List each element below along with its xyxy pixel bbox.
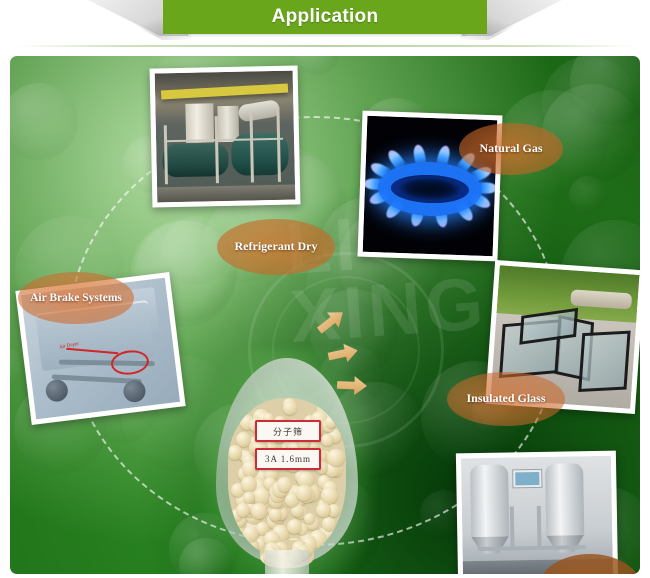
product-tag-name: 分子筛: [255, 420, 321, 442]
product-tag-group: 分子筛 3A 1.6mm: [255, 420, 321, 472]
header-banner: Application: [0, 0, 650, 46]
application-stage: LI XING: [10, 56, 640, 574]
product-vessel-neck: [265, 550, 309, 574]
refrigerant-photo-art: [155, 71, 296, 203]
label-refrigerant-dry[interactable]: Refrigerant Dry: [217, 219, 335, 275]
application-banner: Application LI XING: [0, 0, 650, 578]
label-insulated-glass[interactable]: Insulated Glass: [447, 372, 565, 426]
photo-refrigerant-dry[interactable]: [150, 65, 301, 207]
label-natural-gas[interactable]: Natural Gas: [459, 123, 563, 175]
product-tag-spec: 3A 1.6mm: [255, 448, 321, 470]
page-title: Application: [163, 0, 487, 34]
header-divider: [16, 45, 634, 47]
label-air-brake-systems[interactable]: Air Brake Systems: [18, 272, 134, 324]
